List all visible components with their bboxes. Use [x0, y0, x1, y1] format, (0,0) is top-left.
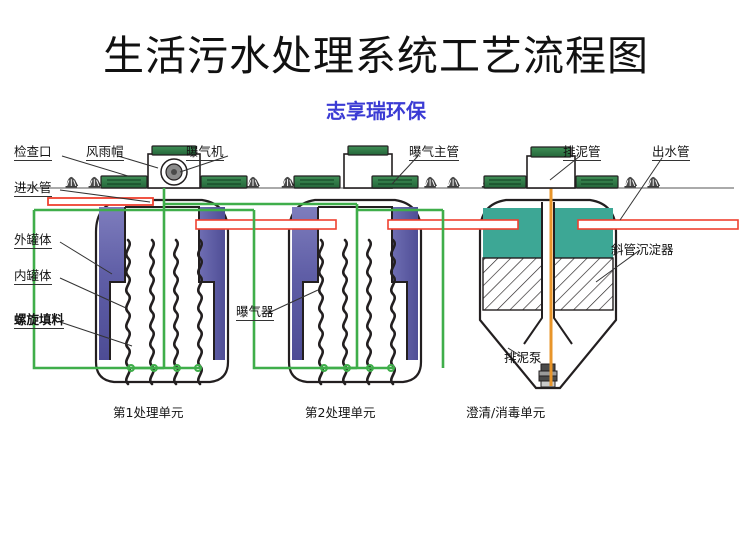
slide-canvas: 生活污水处理系统工艺流程图 志享瑞环保	[0, 0, 752, 557]
callout-label-inspection_port: 检查口	[14, 144, 52, 161]
callout-label-outer_tank: 外罐体	[14, 232, 52, 249]
tank-caps	[101, 146, 618, 188]
callout-label-inner_tank: 内罐体	[14, 268, 52, 285]
callout-label-spiral_filler: 螺旋填料	[14, 312, 64, 329]
callout-label-tube_settler: 斜管沉淀器	[611, 242, 674, 258]
unit-caption-unit-2: 第2处理单元	[305, 402, 375, 421]
outlet-pipe	[578, 220, 738, 229]
process-flow-diagram: 检查口风雨帽曝气机曝气主管排泥管出水管进水管外罐体内罐体螺旋填料曝气器斜管沉淀器…	[0, 132, 752, 452]
page-title: 生活污水处理系统工艺流程图	[0, 30, 752, 82]
sludge-pump	[539, 364, 557, 387]
unit-caption-unit-1: 第1处理单元	[113, 402, 183, 421]
unit-caption-unit-3: 澄清/消毒单元	[466, 402, 545, 421]
callout-label-rain_cap: 风雨帽	[86, 144, 124, 161]
callout-label-sludge_pump: 排泥泵	[504, 350, 542, 366]
transfer-pipe-2-3	[388, 220, 518, 229]
page-subtitle: 志享瑞环保	[0, 98, 752, 124]
inlet-pipe	[48, 198, 153, 205]
callout-label-aeration_main: 曝气主管	[409, 144, 459, 161]
callout-label-sludge_pipe: 排泥管	[563, 144, 601, 161]
callout-label-aerator: 曝气器	[236, 304, 274, 321]
callout-label-inlet_pipe: 进水管	[14, 180, 52, 197]
callout-label-outlet_pipe: 出水管	[652, 144, 690, 161]
callout-label-blower: 曝气机	[186, 144, 224, 161]
tank-3-clarifier	[480, 176, 616, 388]
transfer-pipe-1-2	[196, 220, 336, 229]
